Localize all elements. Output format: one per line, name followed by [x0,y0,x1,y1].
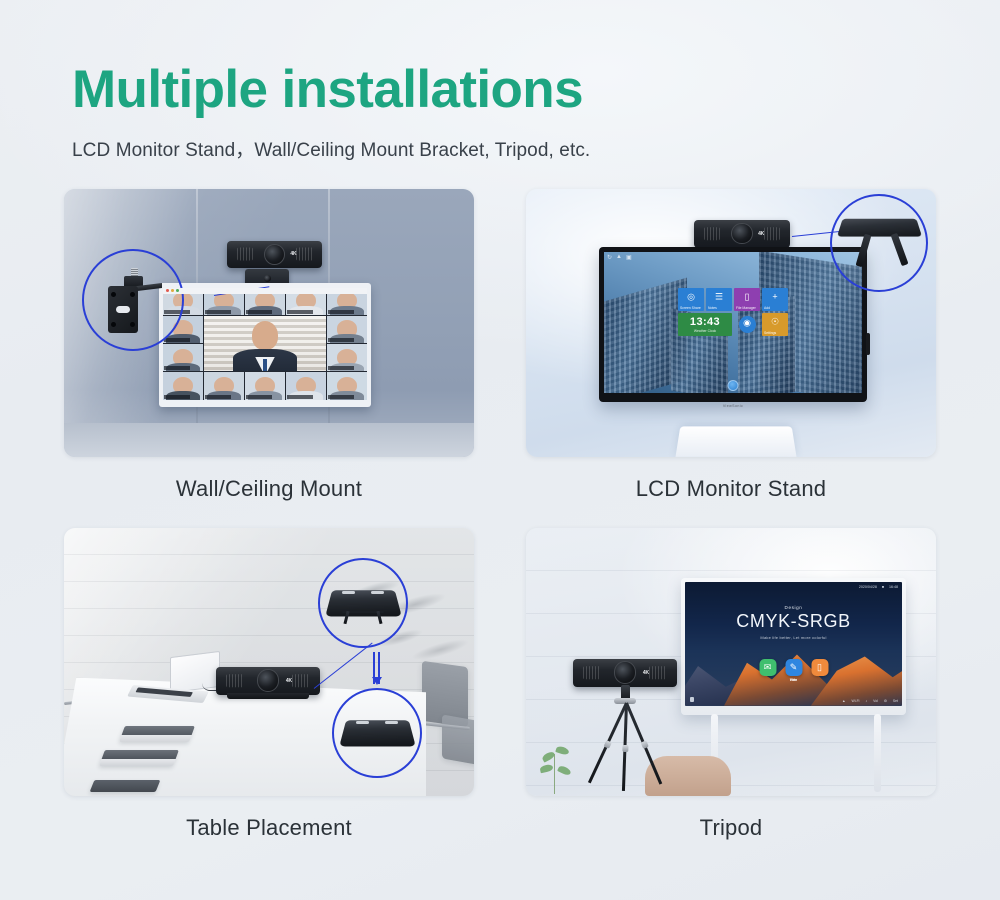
status-time: 16:48 [889,585,898,589]
tripod-stand [584,685,666,793]
participant-tile [286,372,326,399]
webcam-device: 4K [216,667,320,695]
speaker-grille-icon [649,666,667,679]
app-shortcut-row[interactable]: ✉ Note ✎ Write ▯ Files [759,659,828,676]
page-header: Multiple installations LCD Monitor Stand… [0,0,1000,162]
card-caption-lcd-monitor-stand: LCD Monitor Stand [526,457,936,528]
cast-icon: ◎ [687,293,695,302]
gear-icon: ⚙ [884,699,887,703]
interactive-flat-panel: ↻ ▲ ▣ ◎ Screen Share ☰ Notes [599,247,867,402]
plus-icon: + [772,293,777,302]
footer-label: Set [893,699,898,703]
panel-brand: ViewSonic [599,402,867,410]
office-chair [442,714,474,765]
callout-desktop-stand-side [318,558,408,648]
window-controls-icon [166,289,179,292]
camera-lens-icon [614,661,637,684]
card-table-placement[interactable]: 4K [64,528,474,867]
card-tripod[interactable]: 2020/04/28 ■ 16:48 Design CMYK-SRGB Make… [526,528,936,867]
page-subtitle: LCD Monitor Stand，Wall/Ceiling Mount Bra… [72,135,1000,162]
participant-tile [163,372,203,399]
installation-card-grid: 4K [64,189,936,867]
card-wall-ceiling-mount[interactable]: 4K [64,189,474,528]
app-note[interactable]: ✉ Note [759,659,776,676]
wifi-icon: ▲ [616,254,622,261]
camera-lens-icon [257,669,280,692]
card-image-wall-ceiling-mount[interactable]: 4K [64,189,474,457]
notebook [90,780,161,792]
speaker-grille-icon [704,227,720,240]
note-icon: ☰ [715,293,723,302]
refresh-icon: ↻ [607,254,612,261]
participant-tile [327,316,367,343]
clock-value: 13:43 [690,316,720,328]
display-cart-leg [874,714,881,792]
folder-icon: ▯ [745,293,750,302]
desktop-stand-icon [343,715,412,749]
callout-wall-ceiling-bracket [82,249,184,351]
page-title: Multiple installations [72,62,1000,118]
notebook [119,726,195,742]
tile-browser[interactable]: ◉ [739,316,756,333]
tile-settings[interactable]: ☉ Settings [762,313,788,336]
panel-screen: ↻ ▲ ▣ ◎ Screen Share ☰ Notes [604,252,862,393]
speaker-grille-icon [292,674,310,687]
tile-weather-clock[interactable]: 13:43 Weather Clock [678,313,732,336]
app-files[interactable]: ▯ Files [811,659,828,676]
panel-status-bar: ↻ ▲ ▣ [607,254,632,261]
folder-icon: ▯ [817,662,822,673]
camera-lens-icon [731,223,752,244]
speaker-grille-icon [226,674,244,687]
app-write[interactable]: ✎ Write [785,659,802,676]
mountain-wallpaper [724,646,828,706]
desktop-stand-icon [329,585,398,619]
speaker-grille-icon [583,666,601,679]
wallpaper-headline-group: Design CMYK-SRGB Make life better, Let m… [685,605,902,640]
screen-footer-bar: ▲ Wi-Fi ♪ Vol ⚙ Set [842,699,898,703]
screen-status-bar: 2020/04/28 ■ 16:48 [859,585,898,589]
callout-desktop-stand-top [332,688,422,778]
speaker-grille-icon [237,248,253,261]
mobile-display: 2020/04/28 ■ 16:48 Design CMYK-SRGB Make… [681,578,906,715]
wall-bracket-icon [108,268,163,333]
card-lcd-monitor-stand[interactable]: 4K ↻ ▲ ▣ ◎ [526,189,936,528]
card-image-tripod[interactable]: 2020/04/28 ■ 16:48 Design CMYK-SRGB Make… [526,528,936,796]
footer-label: Vol [873,699,878,703]
monitor-stand-icon [840,216,919,269]
card-caption-tripod: Tripod [526,796,936,867]
participant-tile [163,344,203,371]
volume-icon: ♪ [865,699,867,703]
card-image-table-placement[interactable]: 4K [64,528,474,796]
wifi-icon: ▲ [842,699,845,703]
headline-tagline: Make life better, Let more colorful [685,635,902,640]
card-caption-table-placement: Table Placement [64,796,474,867]
tile-launcher[interactable]: ◎ Screen Share ☰ Notes ▯ File Manager [678,288,788,336]
callout-connector-arrow [371,652,383,684]
headline-eyebrow: Design [685,605,902,610]
pen-icon: ✎ [790,662,798,673]
status-date: 2020/04/28 [859,585,877,589]
tile-add[interactable]: + Add [762,288,788,311]
headline-text: CMYK-SRGB [685,611,902,632]
tile-notes[interactable]: ☰ Notes [706,288,732,311]
battery-icon: ■ [882,585,884,589]
wall-mounted-display [159,283,371,407]
video-conference-screen [163,288,367,400]
tile-screen-share[interactable]: ◎ Screen Share [678,288,704,311]
callout-monitor-stand-bracket [830,194,928,292]
browser-icon: ◉ [743,318,751,327]
active-speaker-tile [204,316,326,372]
panel-side-button[interactable] [866,333,870,355]
webcam-device: 4K [573,659,677,687]
footer-label: Wi-Fi [852,699,860,703]
camera-lens-icon [264,244,285,265]
speaker-grille-icon [764,227,780,240]
participant-tile [245,372,285,399]
notebook [99,750,179,766]
card-caption-wall-ceiling-mount: Wall/Ceiling Mount [64,457,474,528]
speaker-grille-icon [296,248,312,261]
screen-titlebar [163,288,367,294]
potted-plant [536,738,576,794]
note-icon: ✉ [764,662,772,673]
apps-icon: ▣ [626,254,632,261]
participant-tile [204,372,244,399]
tile-file-manager[interactable]: ▯ File Manager [734,288,760,311]
webcam-desktop-stand [227,693,309,699]
card-image-lcd-monitor-stand[interactable]: 4K ↻ ▲ ▣ ◎ [526,189,936,457]
settings-icon: ☉ [771,318,779,327]
floor [64,423,474,457]
webcam-device: 4K [694,220,790,248]
webcam-device: 4K [227,241,322,268]
desk-surface [676,426,797,456]
dock-button[interactable] [728,380,739,391]
participant-tile [327,344,367,371]
participant-tile [327,372,367,399]
display-screen: 2020/04/28 ■ 16:48 Design CMYK-SRGB Make… [685,582,902,706]
menu-icon[interactable] [690,697,694,702]
